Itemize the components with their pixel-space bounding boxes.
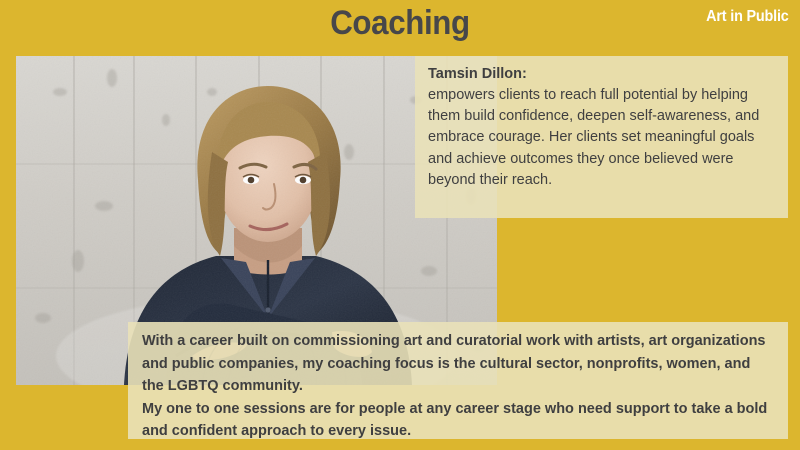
career-paragraph-1: With a career built on commissioning art… <box>142 330 774 398</box>
bio-text-panel: Tamsin Dillon: empowers clients to reach… <box>415 56 788 218</box>
slide-canvas: Coaching Art in Public <box>0 0 800 450</box>
bio-panel-body: empowers clients to reach full potential… <box>428 85 776 191</box>
brand-logo-text: Art in Public <box>707 8 789 26</box>
bio-panel-heading: Tamsin Dillon: <box>428 64 776 85</box>
career-paragraph-2: My one to one sessions are for people at… <box>142 398 774 443</box>
career-text-panel: With a career built on commissioning art… <box>128 322 788 439</box>
page-title: Coaching <box>32 4 768 43</box>
